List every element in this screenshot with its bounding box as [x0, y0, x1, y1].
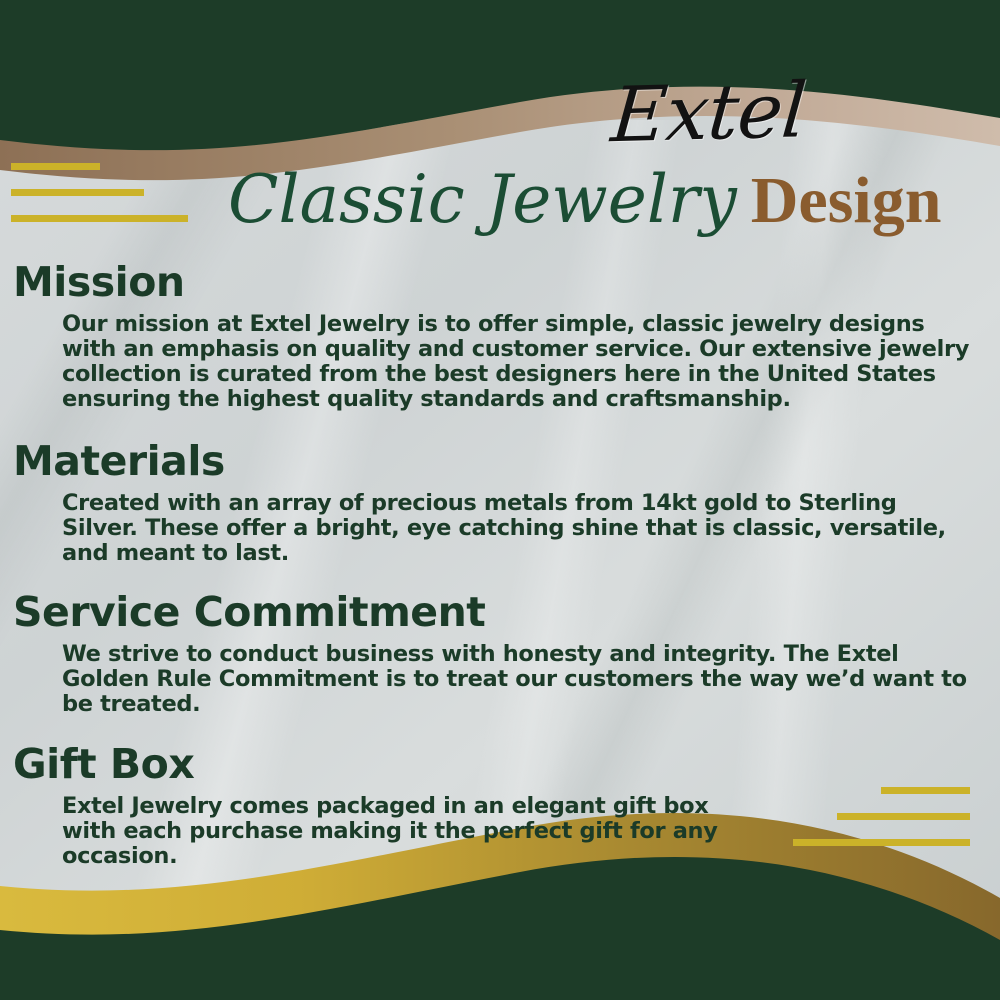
gold-rule — [793, 839, 970, 846]
section-service-commitment: Service Commitment We strive to conduct … — [0, 588, 1000, 717]
section-body-service: We strive to conduct business with hones… — [62, 642, 974, 717]
section-heading-service: Service Commitment — [13, 588, 1000, 636]
section-heading-materials: Materials — [13, 437, 1000, 485]
gold-rule — [11, 189, 144, 196]
section-body-giftbox: Extel Jewelry comes packaged in an elega… — [62, 794, 762, 869]
section-heading-mission: Mission — [13, 258, 1000, 306]
decorative-rules-bottom-right — [793, 787, 970, 865]
poster-canvas: Extel Classic JewelryDesign Mission Our … — [0, 0, 1000, 1000]
decorative-rules-top-left — [11, 163, 188, 241]
section-body-materials: Created with an array of precious metals… — [62, 491, 974, 566]
gold-rule — [11, 163, 100, 170]
section-body-mission: Our mission at Extel Jewelry is to offer… — [62, 312, 974, 412]
page-title-secondary: Design — [751, 164, 942, 237]
gold-rule — [11, 215, 188, 222]
page-title: Classic JewelryDesign — [228, 160, 988, 240]
section-materials: Materials Created with an array of preci… — [0, 437, 1000, 566]
section-mission: Mission Our mission at Extel Jewelry is … — [0, 258, 1000, 412]
brand-wordmark: Extel — [609, 69, 866, 156]
gold-rule — [881, 787, 970, 794]
section-heading-giftbox: Gift Box — [13, 740, 1000, 788]
gold-rule — [837, 813, 970, 820]
page-title-primary: Classic Jewelry — [228, 161, 737, 238]
poster-content: Extel Classic JewelryDesign Mission Our … — [0, 0, 1000, 1000]
